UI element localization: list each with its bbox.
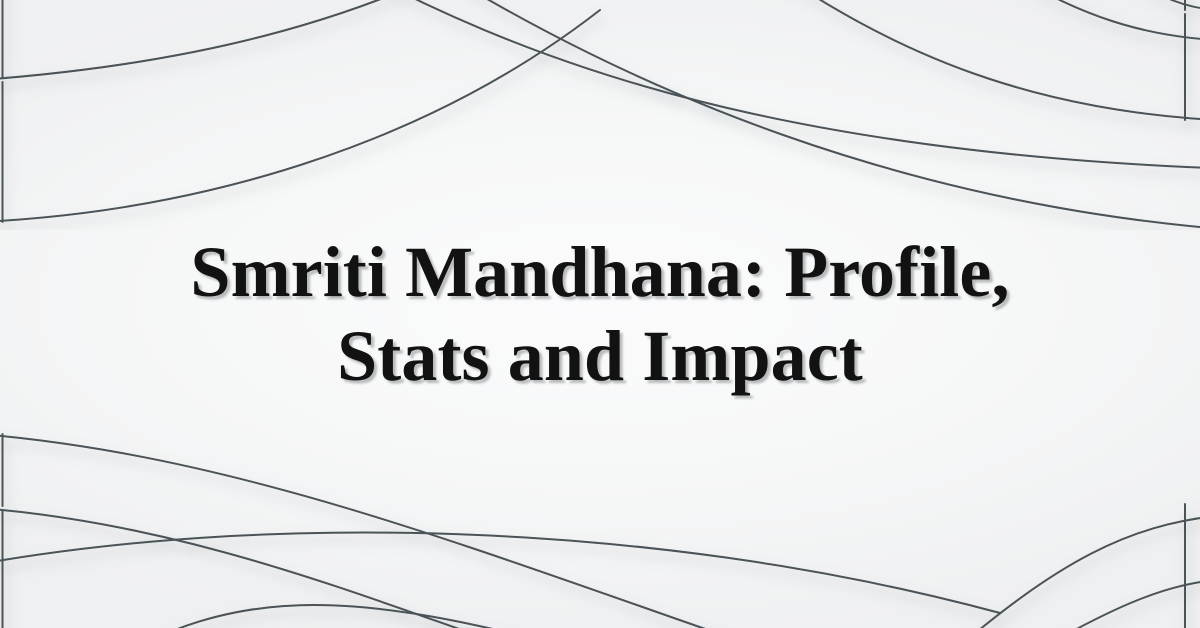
page-title: Smriti Mandhana: Profile, Stats and Impa…: [150, 230, 1050, 398]
banner-card: Smriti Mandhana: Profile, Stats and Impa…: [0, 0, 1200, 628]
title-container: Smriti Mandhana: Profile, Stats and Impa…: [0, 0, 1200, 628]
